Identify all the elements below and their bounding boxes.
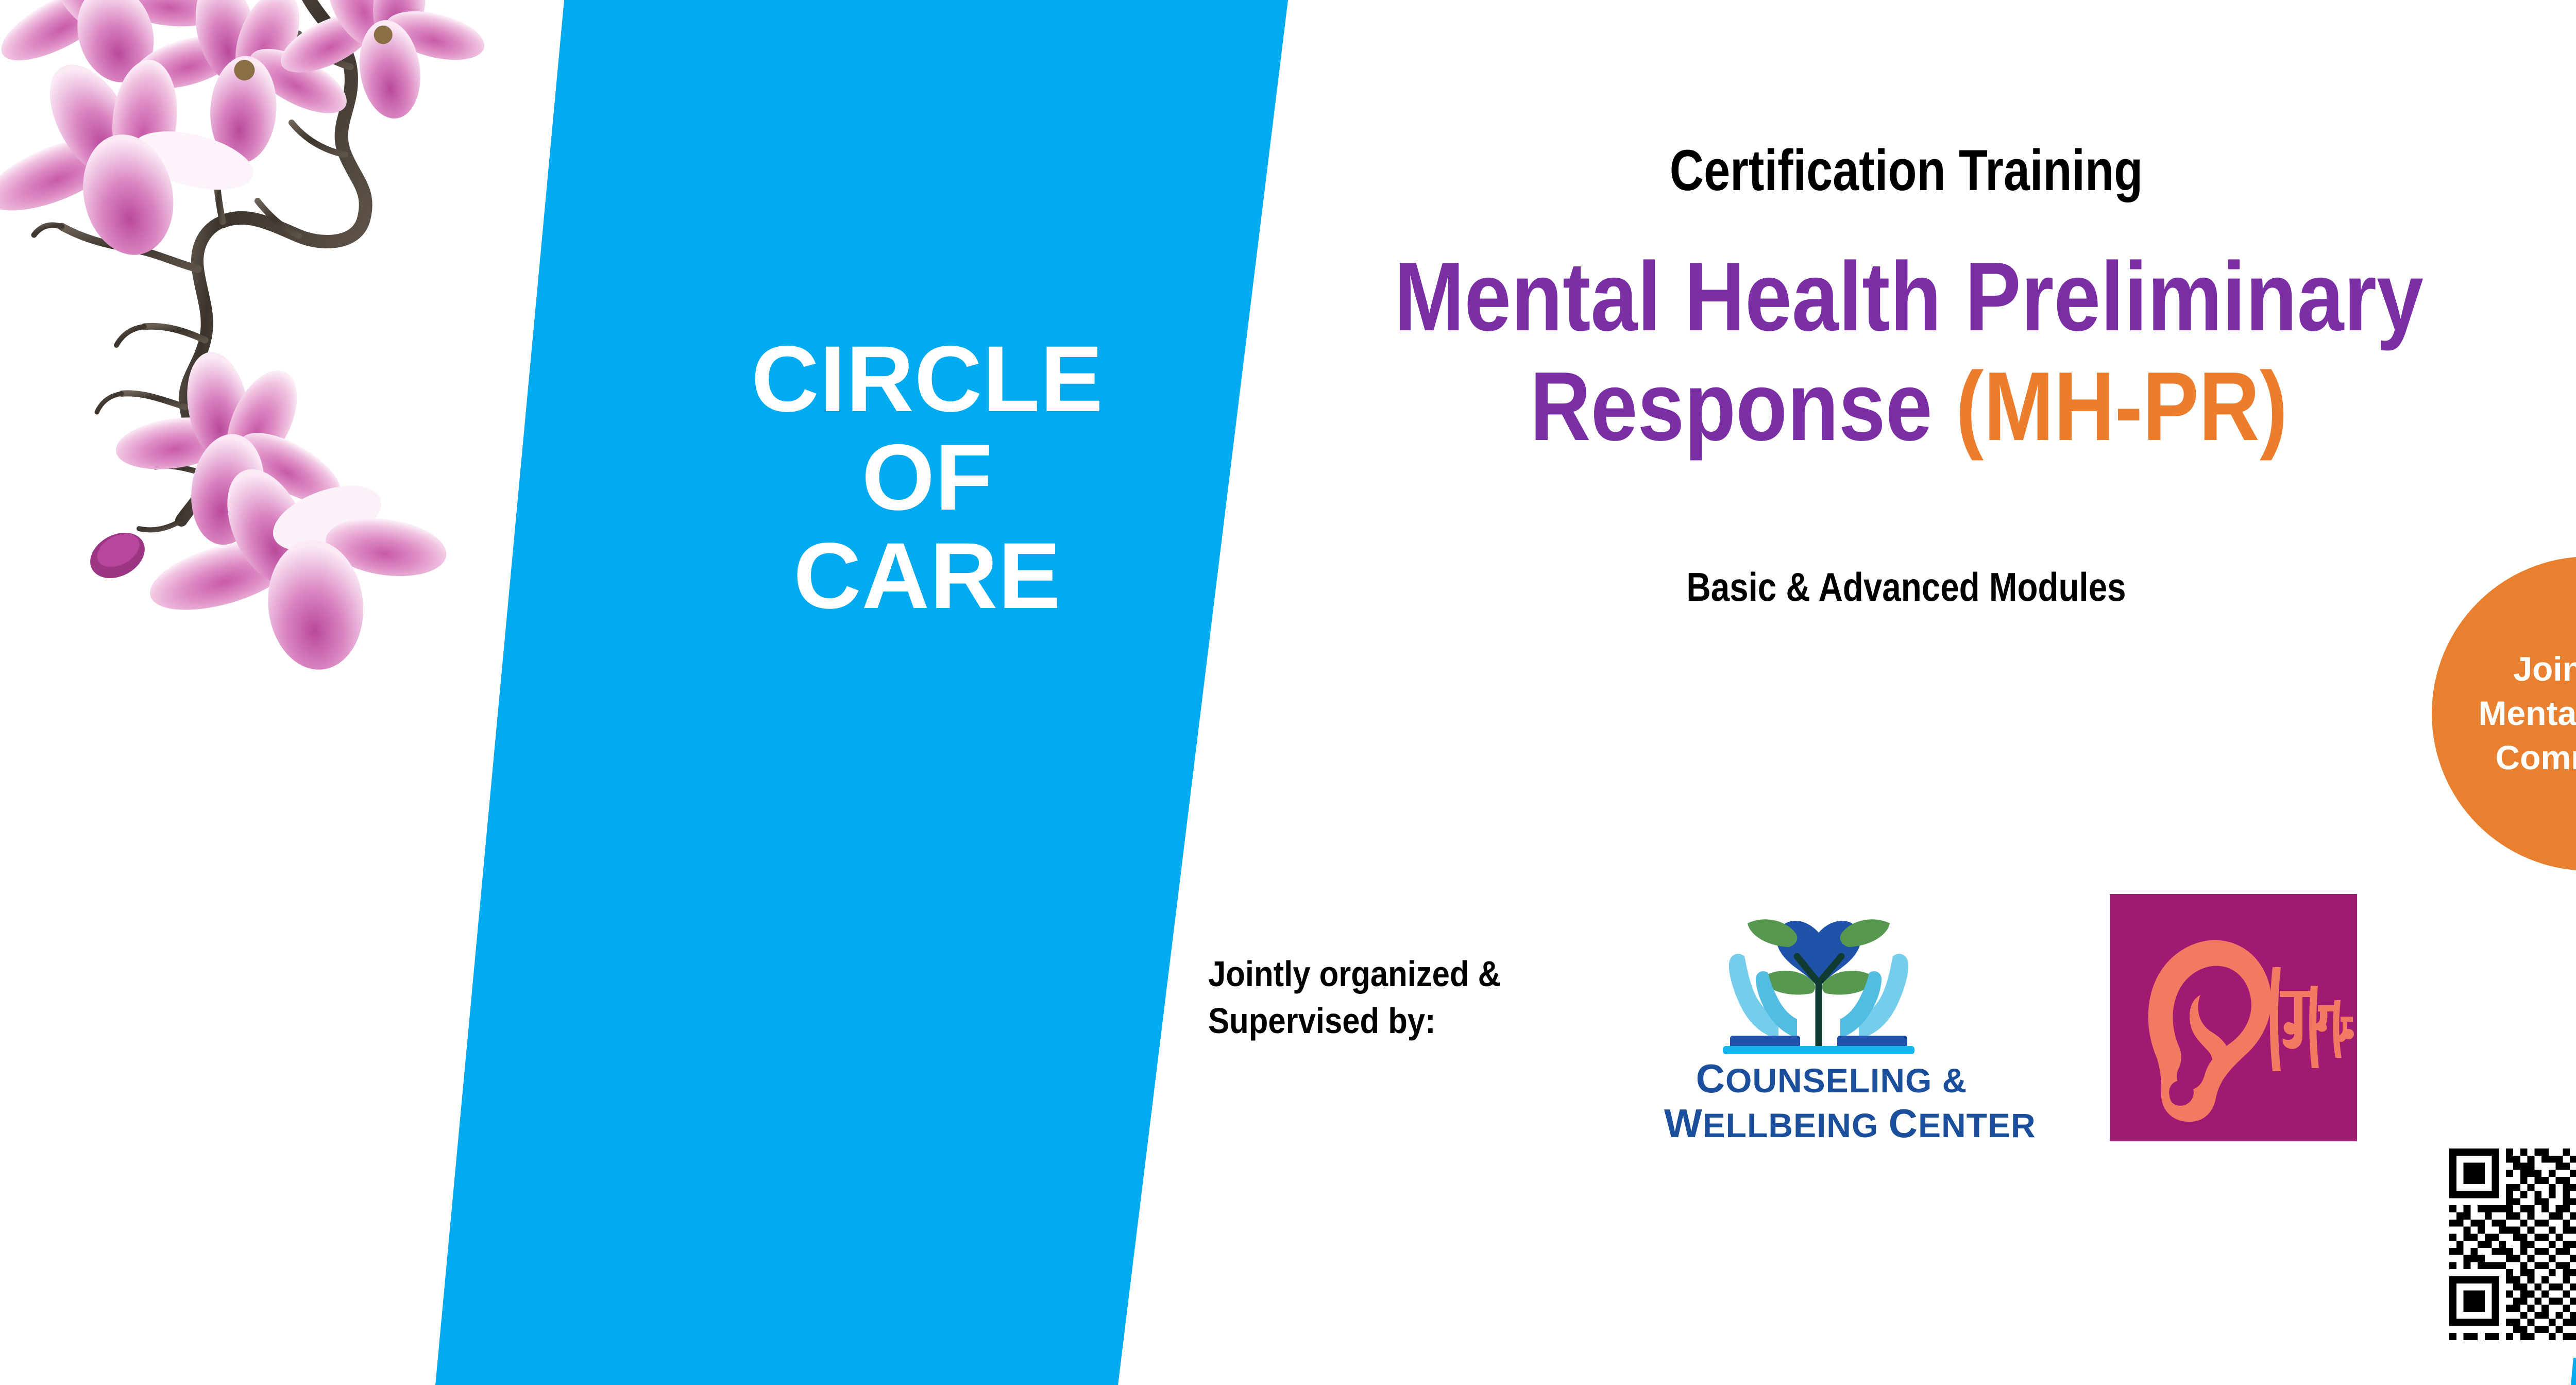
title-line-1: Mental Health Preliminary — [1366, 242, 2452, 352]
cwc-cap-w: W — [1664, 1101, 1703, 1146]
title-main-word: Response — [1530, 352, 1956, 461]
organizer-label-line-2: Supervised by: — [1208, 998, 1580, 1044]
program-name-line-3: CARE — [608, 527, 1247, 625]
cwc-name-line-1: COUNSELING & — [1664, 1056, 1999, 1101]
program-name-line-2: OF — [608, 428, 1247, 527]
promotional-banner: CIRCLE OF CARE Certification Training Me… — [0, 0, 2576, 1385]
moner-khobor-ear-logo — [2110, 894, 2357, 1141]
magnolia-branch-decoration — [0, 0, 598, 706]
title-line-2: Response (MH-PR) — [1366, 352, 2452, 462]
cwc-rest-1: OUNSELING & — [1725, 1061, 1967, 1100]
cwc-rest-2a: ELLBEING — [1703, 1106, 1889, 1144]
heart-plant-hands-icon — [1710, 855, 1927, 1056]
badge-line-2: Mental Health — [2478, 691, 2576, 736]
qr-code-matrix — [2449, 1148, 2576, 1340]
cwc-cap-c2: C — [1889, 1101, 1918, 1146]
title-abbreviation: (MH-PR) — [1956, 352, 2287, 461]
cwc-cap-c: C — [1696, 1056, 1725, 1101]
counseling-wellbeing-center-logo: COUNSELING & WELLBEING CENTER — [1664, 855, 1999, 1164]
subtitle-modules: Basic & Advanced Modules — [1430, 567, 2382, 607]
qr-code[interactable] — [2437, 1136, 2576, 1358]
badge-line-3: Community — [2496, 736, 2576, 780]
cwc-rest-2b: ENTER — [1918, 1106, 2036, 1144]
ear-listening-icon — [2110, 894, 2357, 1141]
join-community-badge[interactable]: Join NSU Mental Health Community — [2432, 556, 2576, 871]
eyebrow-label: Certification Training — [1442, 142, 2371, 199]
organizer-label-line-1: Jointly organized & — [1208, 951, 1580, 998]
program-name-line-1: CIRCLE — [608, 330, 1247, 428]
blue-diagonal-band-left — [0, 0, 1319, 1385]
badge-line-1: Join NSU — [2513, 647, 2576, 691]
counseling-center-name: COUNSELING & WELLBEING CENTER — [1664, 1056, 1999, 1146]
page-title: Mental Health Preliminary Response (MH-P… — [1366, 242, 2452, 462]
organizer-label: Jointly organized & Supervised by: — [1208, 951, 1580, 1044]
program-name: CIRCLE OF CARE — [608, 330, 1247, 625]
cwc-name-line-2: WELLBEING CENTER — [1664, 1101, 1999, 1146]
